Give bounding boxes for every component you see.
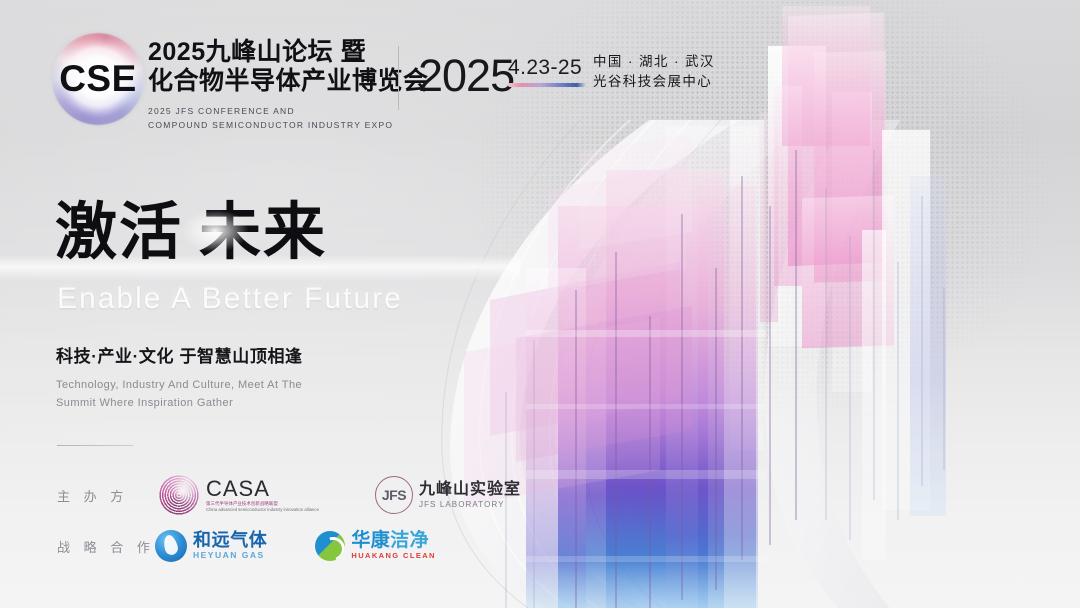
- date-gradient-bar: [508, 83, 586, 87]
- event-title-block: 2025九峰山论坛 暨 化合物半导体产业博览会 2025 JFS CONFERE…: [148, 38, 429, 131]
- cse-logo-text: CSE: [52, 33, 144, 125]
- event-dates-block: 4.23-25: [508, 56, 586, 87]
- jfs-ring-icon: JFS: [375, 476, 413, 514]
- event-title-en-line2: COMPOUND SEMICONDUCTOR INDUSTRY EXPO: [148, 119, 429, 132]
- section-divider-rule: [57, 445, 133, 446]
- headline-part-2: 未来: [199, 198, 327, 267]
- casa-globe-icon: [159, 475, 199, 515]
- heyuan-gas-logo[interactable]: 和远气体 HEYUAN GAS: [155, 530, 267, 562]
- event-year: 2025: [418, 50, 514, 102]
- strategic-partner-row: 战 略 合 作 和远气体 HEYUAN GAS 华康洁净 HUAKANG CLE…: [57, 530, 436, 562]
- event-location-line1: 中国 · 湖北 · 武汉: [593, 52, 715, 72]
- jfs-text-block: 九峰山实验室 JFS LABORATORY: [419, 481, 521, 510]
- poster-canvas: CSE 2025九峰山论坛 暨 化合物半导体产业博览会 2025 JFS CON…: [0, 0, 1080, 608]
- jfs-name-en: JFS LABORATORY: [419, 499, 521, 510]
- event-dates: 4.23-25: [508, 56, 586, 80]
- huakang-name-cn-part2: 洁净: [390, 530, 429, 551]
- huakang-name-cn-part1: 华康: [351, 530, 390, 551]
- organizer-row: 主 办 方 CASA 第三代半导体产业技术创新战略联盟 China advanc…: [57, 475, 521, 515]
- huakang-text-block: 华康洁净 HUAKANG CLEAN: [351, 531, 435, 561]
- event-location-line2: 光谷科技会展中心: [593, 72, 715, 92]
- heyuan-name-en: HEYUAN GAS: [193, 550, 267, 561]
- huakang-name-en: HUAKANG CLEAN: [351, 551, 435, 561]
- heyuan-droplet-icon: [155, 530, 187, 562]
- cse-logo: CSE: [52, 33, 144, 125]
- jfs-mark-text: JFS: [382, 487, 406, 503]
- organizer-label: 主 办 方: [57, 486, 151, 505]
- jfs-name-cn: 九峰山实验室: [419, 481, 521, 499]
- hero-tagline-en: Technology, Industry And Culture, Meet A…: [56, 376, 302, 412]
- event-title-cn-line2: 化合物半导体产业博览会: [148, 67, 429, 96]
- header-divider: [398, 46, 399, 110]
- strategic-label: 战 略 合 作: [57, 537, 151, 556]
- event-location-block: 中国 · 湖北 · 武汉 光谷科技会展中心: [593, 52, 715, 92]
- headline-part-1: 激活: [55, 198, 183, 267]
- huakang-leaf-icon: [315, 531, 345, 561]
- hero-tagline-cn: 科技·产业·文化 于智慧山顶相逢: [56, 345, 303, 369]
- event-title-en-line1: 2025 JFS CONFERENCE AND: [148, 105, 429, 118]
- casa-logo[interactable]: CASA 第三代半导体产业技术创新战略联盟 China advanced sem…: [159, 475, 319, 515]
- hero-headline: 激活未来: [55, 196, 327, 270]
- huakang-name-cn: 华康洁净: [351, 531, 435, 551]
- heyuan-name-cn: 和远气体: [193, 531, 267, 550]
- hero-subline: Enable A Better Future: [57, 279, 403, 319]
- casa-name: CASA: [206, 478, 319, 500]
- casa-name-en: China advanced semiconductor industry in…: [206, 507, 319, 513]
- huakang-clean-logo[interactable]: 华康洁净 HUAKANG CLEAN: [315, 531, 435, 561]
- casa-text-block: CASA 第三代半导体产业技术创新战略联盟 China advanced sem…: [206, 478, 319, 513]
- event-title-cn-line1: 2025九峰山论坛 暨: [148, 38, 429, 67]
- poster-header: CSE 2025九峰山论坛 暨 化合物半导体产业博览会 2025 JFS CON…: [0, 0, 1080, 150]
- heyuan-text-block: 和远气体 HEYUAN GAS: [193, 531, 267, 561]
- jfs-logo[interactable]: JFS 九峰山实验室 JFS LABORATORY: [375, 476, 521, 514]
- hero-tagline-en-line2: Summit Where Inspiration Gather: [56, 394, 302, 412]
- hero-tagline-en-line1: Technology, Industry And Culture, Meet A…: [56, 376, 302, 394]
